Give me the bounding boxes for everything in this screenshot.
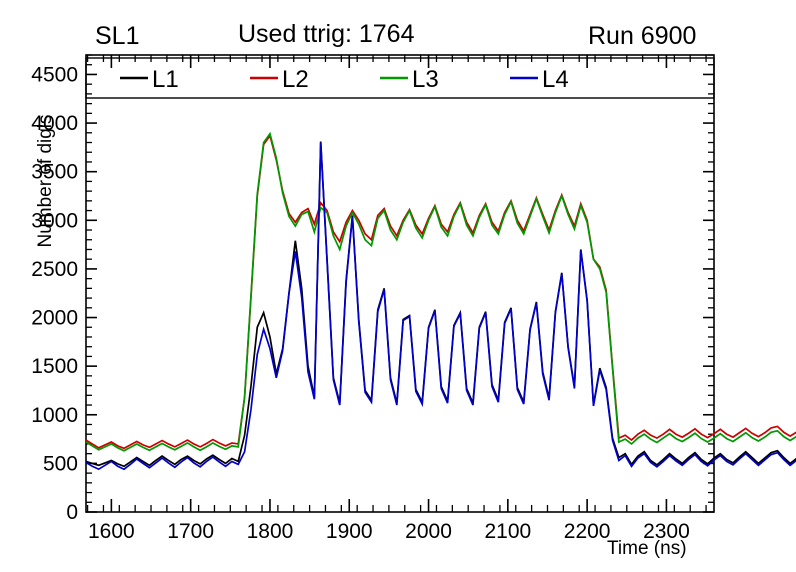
series-line-l3	[86, 134, 796, 512]
legend-label-l2: L2	[282, 66, 309, 93]
y-tick-label: 1500	[31, 355, 78, 378]
header-run-label: Run 6900	[588, 22, 696, 51]
x-tick-label: 2100	[484, 520, 531, 543]
y-tick-label: 1000	[31, 404, 78, 427]
series-line-l2	[86, 136, 796, 512]
x-tick-label: 2000	[405, 520, 452, 543]
plot-area: 050010001500200025003000350040004500 160…	[0, 0, 796, 572]
y-tick-label: 2000	[31, 307, 78, 330]
y-tick-label: 4500	[31, 63, 78, 86]
x-tick-label: 1800	[247, 520, 294, 543]
legend-label-l4: L4	[542, 66, 569, 93]
x-tick-label: 2200	[564, 520, 611, 543]
data-series-group	[86, 134, 796, 512]
x-tick-label: 1700	[167, 520, 214, 543]
x-tick-label: 1600	[88, 520, 135, 543]
y-tick-label: 0	[66, 501, 78, 524]
y-tick-label: 500	[43, 452, 78, 475]
y-axis-title: Number of digis	[35, 91, 57, 271]
legend-label-l3: L3	[412, 66, 439, 93]
header-ttrig-label: Used ttrig: 1764	[238, 20, 415, 49]
header-superlayer-label: SL1	[95, 22, 139, 51]
x-axis-ticks: 16001700180019002000210022002300	[88, 55, 706, 543]
x-axis-title: Time (ns)	[607, 538, 687, 560]
x-tick-label: 1900	[326, 520, 373, 543]
y-axis-ticks: 050010001500200025003000350040004500	[31, 55, 714, 524]
legend-label-l1: L1	[152, 66, 179, 93]
series-line-l1	[86, 142, 796, 512]
legend: L1L2L3L4	[86, 58, 714, 98]
root-canvas: SL1 Used ttrig: 1764 Run 6900 Number of …	[0, 0, 796, 572]
